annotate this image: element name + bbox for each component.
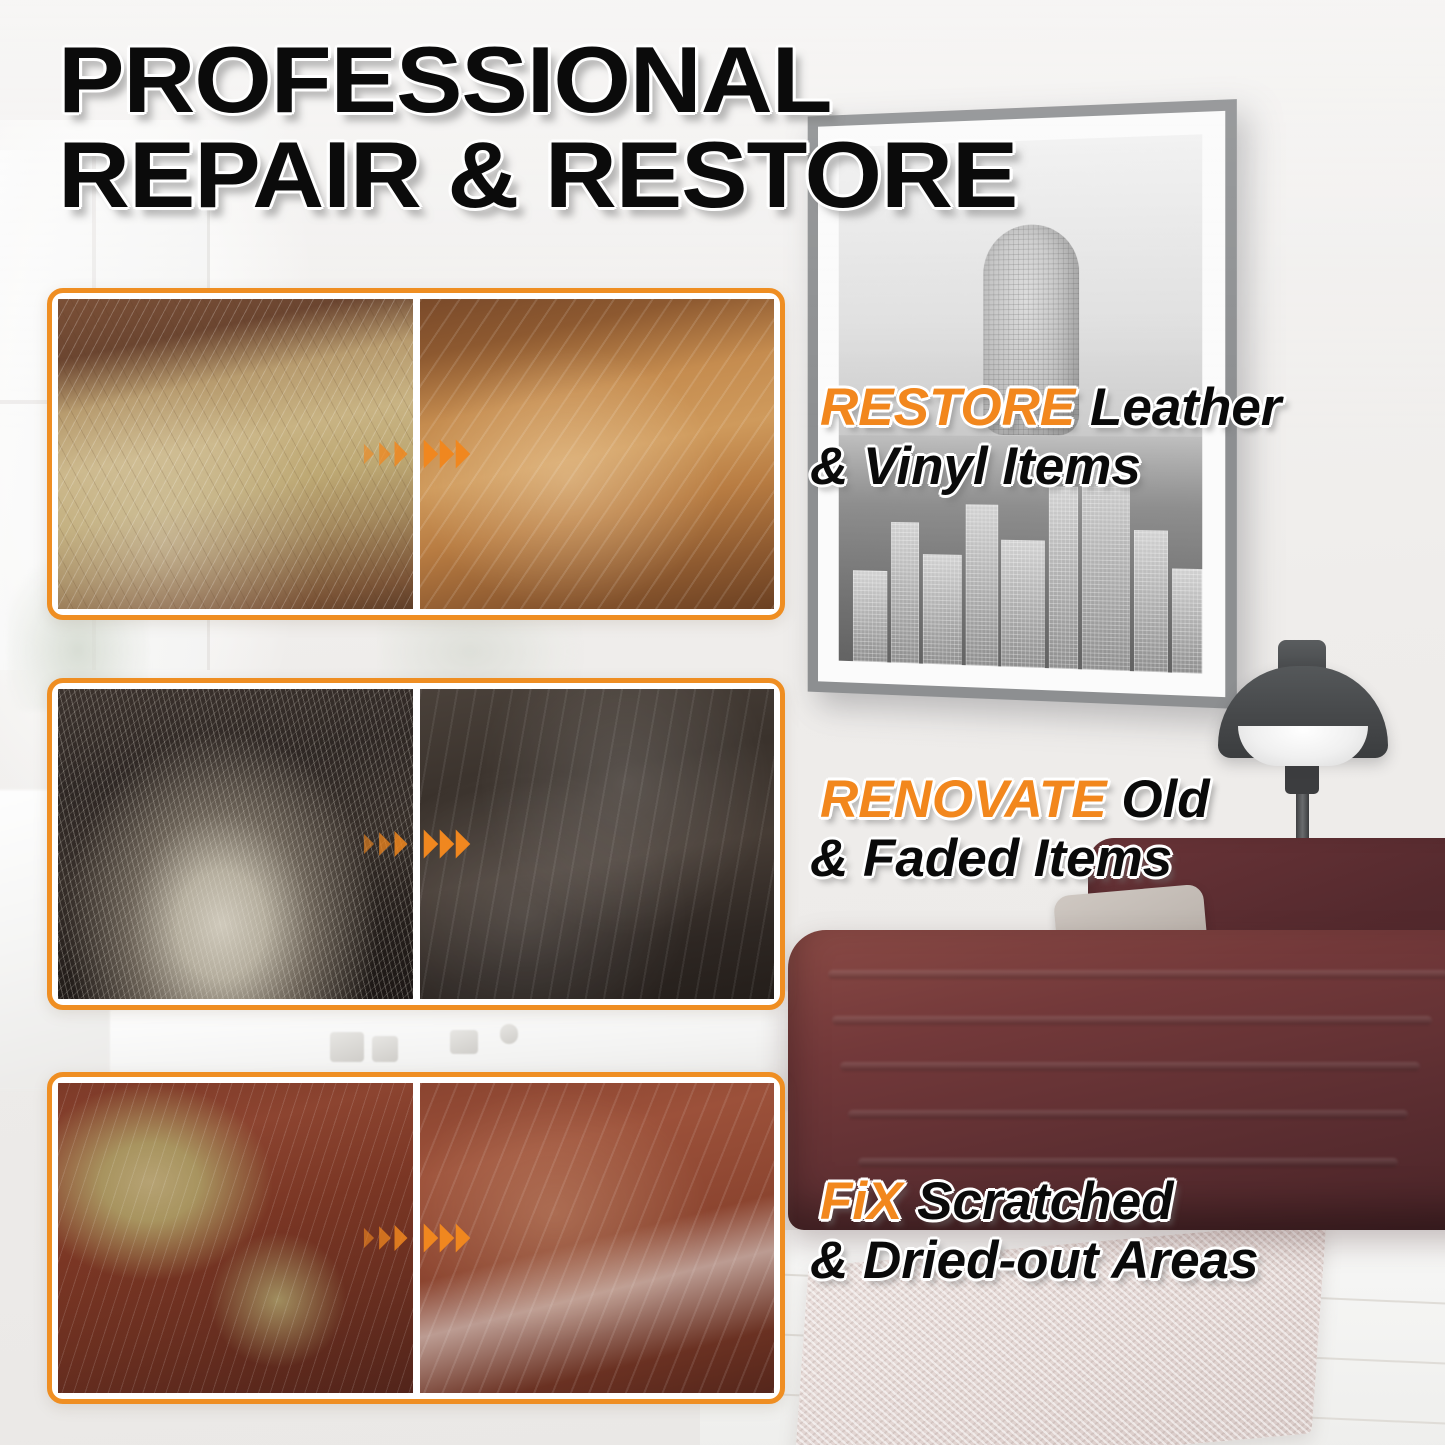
table-object-4 — [500, 1024, 518, 1044]
comparison-panel-restore — [47, 288, 785, 620]
feature-renovate-line-1: RENOVATE Old — [820, 770, 1210, 829]
feature-restore-line-2: & Vinyl Items — [810, 437, 1281, 496]
feature-fix-line-1: FiX Scratched — [820, 1172, 1259, 1231]
feature-fix-line-2: & Dried-out Areas — [810, 1231, 1259, 1290]
table-object-2 — [372, 1036, 398, 1062]
after-image-fixed-sofa — [420, 1083, 775, 1393]
feature-fix: FiX Scratched & Dried-out Areas — [820, 1172, 1259, 1291]
feature-renovate-keyword: RENOVATE — [820, 770, 1107, 829]
before-image-scratched-sofa — [58, 1083, 413, 1393]
after-image-restored-sofa — [420, 299, 775, 609]
feature-restore-rest: Leather — [1075, 378, 1281, 437]
page-title: PROFESSIONAL REPAIR & RESTORE — [58, 34, 1245, 220]
comparison-panel-renovate — [47, 678, 785, 1010]
feature-renovate: RENOVATE Old & Faded Items — [820, 770, 1210, 889]
feature-restore-line-1: RESTORE Leather — [820, 378, 1281, 437]
headline-line-1: PROFESSIONAL — [58, 27, 831, 132]
comparison-panel-fix — [47, 1072, 785, 1404]
feature-fix-rest: Scratched — [902, 1172, 1173, 1231]
headline-line-2: REPAIR & RESTORE — [58, 129, 1245, 220]
before-image-faded-sofa — [58, 299, 413, 609]
feature-restore: RESTORE Leather & Vinyl Items — [820, 378, 1281, 497]
product-marketing-image: PROFESSIONAL REPAIR & RESTORE — [0, 0, 1445, 1445]
feature-renovate-line-2: & Faded Items — [810, 829, 1210, 888]
feature-restore-keyword: RESTORE — [820, 378, 1075, 437]
after-image-renovated-recliner — [420, 689, 775, 999]
table-object-3 — [450, 1030, 478, 1054]
lamp-inner-glow — [1238, 726, 1368, 766]
table-object-1 — [330, 1032, 364, 1062]
feature-renovate-rest: Old — [1107, 770, 1210, 829]
feature-fix-keyword: FiX — [820, 1172, 902, 1231]
before-image-cracked-recliner — [58, 689, 413, 999]
